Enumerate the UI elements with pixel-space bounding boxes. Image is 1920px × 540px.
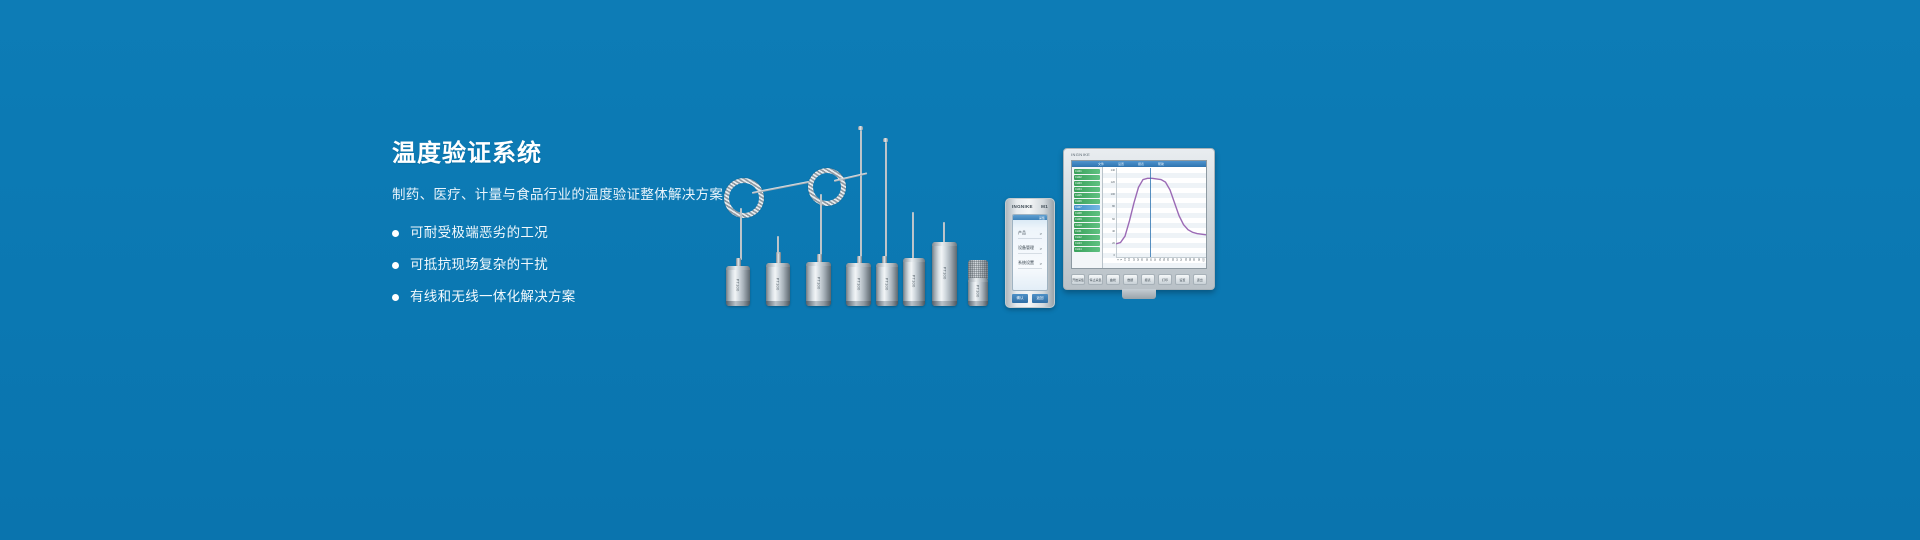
monitor-stand	[1122, 289, 1156, 299]
channel-id: CH01	[1074, 169, 1100, 174]
channel-row[interactable]: CH07	[1074, 205, 1100, 210]
handheld-model: M1	[1041, 204, 1048, 209]
product-banner: 温度验证系统 制药、医疗、计量与食品行业的温度验证整体解决方案 可耐受极端恶劣的…	[0, 0, 1920, 540]
handheld-keypad: 确认 返回	[1012, 294, 1048, 303]
x-tick: 100	[1202, 258, 1205, 262]
channel-row[interactable]: CH04	[1074, 187, 1100, 192]
channel-row[interactable]: CH01	[1074, 169, 1100, 174]
chevron-right-icon: >	[1040, 246, 1042, 251]
channel-row[interactable]: CH13	[1074, 241, 1100, 246]
y-tick: 100	[1103, 193, 1116, 196]
temperature-curve-svg	[1116, 168, 1206, 258]
start-acquisition-button[interactable]: 开始采集	[1071, 274, 1085, 285]
sensor-body: PT100	[766, 263, 790, 306]
sensor-label: PT100	[942, 266, 947, 279]
handheld-reader[interactable]: INGNIKE M1 采集 产品 > 设备管理 >	[1005, 198, 1055, 308]
handheld-menu-item[interactable]: 产品 >	[1018, 230, 1042, 239]
channel-row[interactable]: CH02	[1074, 175, 1100, 180]
y-tick: 40	[1103, 230, 1116, 233]
channel-row[interactable]: CH11	[1074, 229, 1100, 234]
channel-row[interactable]: CH06	[1074, 199, 1100, 204]
handheld-screen[interactable]: 采集 产品 > 设备管理 > 系统设置 >	[1012, 214, 1048, 291]
needle-probe-tip-icon	[883, 138, 888, 142]
chart-cursor-line[interactable]	[1150, 168, 1151, 258]
settings-button[interactable]: 设置	[1175, 274, 1189, 285]
x-tick: 10	[1123, 258, 1126, 261]
data-button[interactable]: 数据	[1123, 274, 1137, 285]
channel-id: CH10	[1074, 223, 1100, 228]
channel-row[interactable]: CH05	[1074, 193, 1100, 198]
channel-row[interactable]: CH03	[1074, 181, 1100, 186]
sensor-body: PT100	[846, 263, 871, 306]
temperature-chart: 140 120 100 80 60 40 20 0	[1103, 168, 1206, 268]
sensor-body: PT100	[876, 263, 898, 306]
sensor-label: PT100	[856, 277, 861, 290]
handheld-confirm-button[interactable]: 确认	[1012, 294, 1028, 303]
print-button[interactable]: 打印	[1158, 274, 1172, 285]
y-tick: 20	[1103, 242, 1116, 245]
channel-row[interactable]: CH08	[1074, 211, 1100, 216]
needle-probe-tip-icon	[858, 126, 863, 130]
y-tick: 140	[1103, 169, 1116, 172]
y-tick: 80	[1103, 205, 1116, 208]
channel-id: CH05	[1074, 193, 1100, 198]
handheld-brand: INGNIKE	[1012, 204, 1033, 209]
handheld-menu-item[interactable]: 系统设置 >	[1018, 260, 1042, 269]
channel-id: CH06	[1074, 199, 1100, 204]
menu-help[interactable]: 帮助	[1158, 162, 1164, 166]
coiled-sensor-cable	[808, 168, 846, 206]
sensor-label: PT100	[885, 277, 890, 290]
channel-id: CH03	[1074, 181, 1100, 186]
x-tick: 50	[1157, 258, 1160, 261]
channel-id: CH14	[1074, 247, 1100, 252]
logger-body: PT100	[968, 278, 988, 306]
sensor-body: PT100	[903, 258, 925, 306]
channel-id: CH08	[1074, 211, 1100, 216]
chart-plot-area	[1116, 168, 1206, 258]
x-tick: 90	[1192, 258, 1195, 261]
menu-file[interactable]: 文件	[1098, 162, 1104, 166]
sensor-lead	[820, 194, 822, 260]
logger-body: PT100	[932, 242, 957, 306]
x-tick: 40	[1149, 258, 1152, 261]
needle-probe-shaft	[860, 130, 862, 260]
sensor-label: PT100	[976, 285, 981, 298]
handheld-menu-label: 系统设置	[1018, 260, 1034, 266]
channel-row[interactable]: CH14	[1074, 247, 1100, 252]
monitor-screen[interactable]: 文件 设置 报表 帮助 CH01 CH02 CH03 CH04 CH05 CH0…	[1071, 160, 1207, 269]
monitor-brand: INGNIKE	[1071, 152, 1090, 157]
channel-id: CH02	[1074, 175, 1100, 180]
chevron-right-icon: >	[1040, 231, 1042, 236]
validation-software-monitor[interactable]: INGNIKE 文件 设置 报表 帮助 CH01 CH02 CH03 CH04 …	[1063, 148, 1215, 290]
needle-probe-shaft	[885, 142, 887, 260]
feature-text: 可耐受极端恶劣的工况	[410, 224, 548, 242]
x-tick: 5	[1119, 259, 1122, 260]
sensor-body: PT100	[806, 262, 831, 306]
product-photo-group: PT100 PT100 PT100 PT100 PT100 PT100 PT10…	[700, 120, 1220, 320]
y-tick: 60	[1103, 218, 1116, 221]
handheld-menu-label: 设备管理	[1018, 245, 1034, 251]
report-button[interactable]: 报表	[1141, 274, 1155, 285]
chevron-right-icon: >	[1040, 261, 1042, 266]
x-tick: 25	[1136, 258, 1139, 261]
software-menubar: 文件 设置 报表 帮助	[1072, 161, 1206, 167]
handheld-menu: 产品 > 设备管理 > 系统设置 >	[1013, 220, 1047, 269]
software-toolbar: 开始采集 停止采集 曲线 数据 报表 打印 设置 退出	[1071, 274, 1207, 285]
sintered-filter-cap	[968, 260, 988, 280]
x-tick: 30	[1140, 258, 1143, 261]
bullet-dot-icon	[392, 294, 399, 301]
coiled-sensor-cable	[724, 178, 764, 218]
sensor-body: PT100	[726, 266, 750, 306]
x-tick: 55	[1162, 258, 1165, 261]
sensor-label: PT100	[912, 275, 917, 288]
logger-antenna	[943, 222, 945, 244]
handheld-menu-item[interactable]: 设备管理 >	[1018, 245, 1042, 254]
y-tick: 120	[1103, 181, 1116, 184]
bullet-dot-icon	[392, 262, 399, 269]
curve-button[interactable]: 曲线	[1106, 274, 1120, 285]
sensor-label: PT100	[776, 277, 781, 290]
sensor-label: PT100	[736, 279, 741, 292]
x-tick: 85	[1188, 258, 1191, 261]
x-tick: 70	[1175, 258, 1178, 261]
handheld-titlebar-label: 采集	[1039, 216, 1045, 220]
channel-id: CH12	[1074, 235, 1100, 240]
x-tick: 95	[1197, 258, 1200, 261]
chart-x-axis: 0510152025303540455055606570758085909510…	[1116, 257, 1206, 268]
channel-id: CH04	[1074, 187, 1100, 192]
handheld-menu-label: 产品	[1018, 230, 1026, 236]
channel-row[interactable]: CH09	[1074, 217, 1100, 222]
feature-text: 有线和无线一体化解决方案	[410, 288, 576, 306]
channel-id: CH07	[1074, 205, 1100, 210]
sensor-label: PT100	[816, 277, 821, 290]
channel-row[interactable]: CH12	[1074, 235, 1100, 240]
channel-id: CH09	[1074, 217, 1100, 222]
sensor-lead	[777, 236, 779, 254]
feature-text: 可抵抗现场复杂的干扰	[410, 256, 548, 274]
x-tick: 45	[1153, 258, 1156, 261]
x-tick: 15	[1127, 258, 1130, 261]
stop-acquisition-button[interactable]: 停止采集	[1088, 274, 1102, 285]
sensor-lead	[740, 208, 742, 260]
exit-button[interactable]: 退出	[1193, 274, 1207, 285]
x-tick: 65	[1170, 258, 1173, 261]
sensor-lead	[912, 212, 914, 260]
x-tick: 60	[1166, 258, 1169, 261]
bullet-dot-icon	[392, 230, 399, 237]
handheld-brand-row: INGNIKE M1	[1012, 204, 1048, 209]
handheld-back-button[interactable]: 返回	[1032, 294, 1048, 303]
x-tick: 35	[1144, 258, 1147, 261]
menu-report[interactable]: 报表	[1138, 162, 1144, 166]
x-tick: 20	[1131, 258, 1134, 261]
channel-id: CH13	[1074, 241, 1100, 246]
x-tick: 80	[1184, 258, 1187, 261]
y-tick: 0	[1103, 254, 1116, 257]
chart-y-axis: 140 120 100 80 60 40 20 0	[1103, 168, 1117, 258]
channel-id: CH11	[1074, 229, 1100, 234]
channel-list[interactable]: CH01 CH02 CH03 CH04 CH05 CH06 CH07 CH08 …	[1072, 161, 1103, 268]
menu-settings[interactable]: 设置	[1118, 162, 1124, 166]
channel-row[interactable]: CH10	[1074, 223, 1100, 228]
x-tick: 75	[1179, 258, 1182, 261]
